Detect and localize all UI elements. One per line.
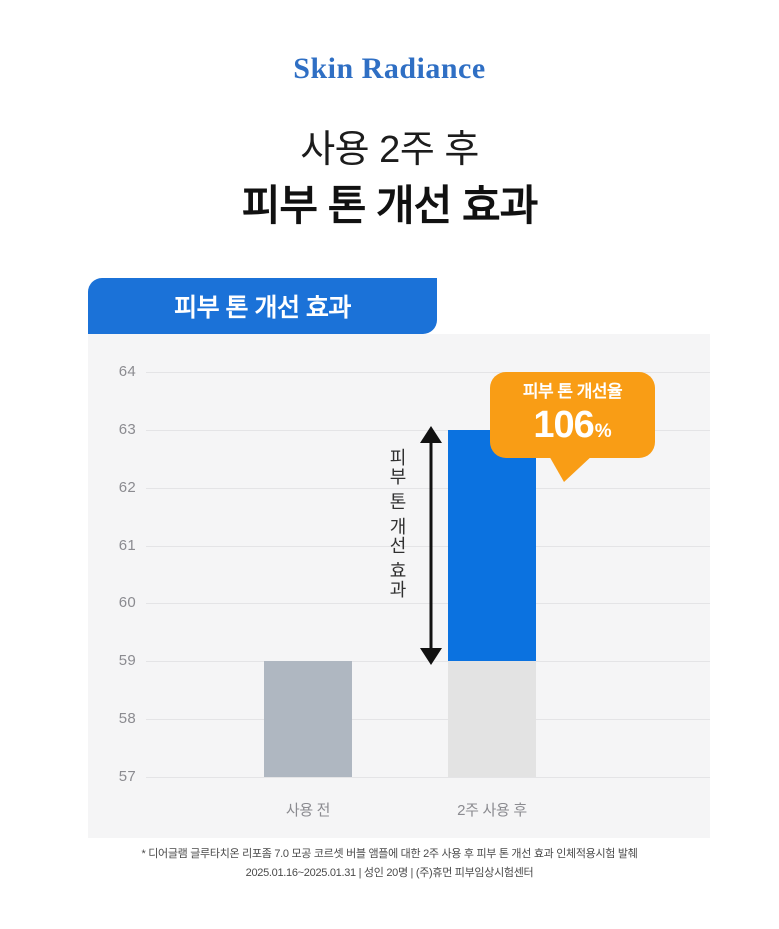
callout-value: 106 <box>533 404 593 446</box>
bar-before <box>264 661 352 777</box>
callout-value-row: 106% <box>490 406 655 444</box>
chart-plot-area: 6463626160595857사용 전2주 사용 후피부 톤 개선 효과피부 … <box>88 334 710 838</box>
y-axis-tick-label: 63 <box>88 421 136 438</box>
callout-tail <box>548 454 594 482</box>
gridline <box>146 777 710 778</box>
callout-title: 피부 톤 개선율 <box>490 383 655 400</box>
x-axis-tick-label: 2주 사용 후 <box>412 799 572 820</box>
y-axis-tick-label: 58 <box>88 710 136 727</box>
brand-title: Skin Radiance <box>0 52 779 86</box>
y-axis-tick-label: 62 <box>88 479 136 496</box>
headline-secondary: 피부 톤 개선 효과 <box>0 172 779 233</box>
improvement-range-label: 피부 톤 개선 효과 <box>384 448 410 599</box>
y-axis-gridline: 60 <box>88 603 710 604</box>
improvement-rate-callout: 피부 톤 개선율106% <box>490 372 655 458</box>
improvement-range-arrow <box>418 426 444 665</box>
y-axis-gridline: 58 <box>88 719 710 720</box>
bar-segment-base <box>448 661 536 777</box>
arrow-shaft <box>430 434 433 657</box>
chart-title-label: 피부 톤 개선 효과 <box>174 288 351 324</box>
y-axis-tick-label: 60 <box>88 594 136 611</box>
y-axis-tick-label: 64 <box>88 363 136 380</box>
y-axis-tick-label: 61 <box>88 537 136 554</box>
chart-card: 피부 톤 개선 효과 6463626160595857사용 전2주 사용 후피부… <box>88 278 710 838</box>
bar-segment-improvement <box>448 430 536 661</box>
callout-unit: % <box>595 421 612 442</box>
y-axis-tick-label: 59 <box>88 652 136 669</box>
footnote: * 디어글램 글루타치온 리포좀 7.0 모공 코르셋 버블 앰플에 대한 2주… <box>0 845 779 884</box>
arrow-head-up-icon <box>420 426 442 443</box>
y-axis-tick-label: 57 <box>88 768 136 785</box>
arrow-head-down-icon <box>420 648 442 665</box>
footnote-line-1: * 디어글램 글루타치온 리포좀 7.0 모공 코르셋 버블 앰플에 대한 2주… <box>0 845 779 864</box>
headline-primary: 사용 2주 후 <box>0 118 779 173</box>
y-axis-gridline: 57 <box>88 777 710 778</box>
chart-title-tab: 피부 톤 개선 효과 <box>88 278 437 334</box>
footnote-line-2: 2025.01.16~2025.01.31 | 성인 20명 | (주)휴먼 피… <box>0 864 779 883</box>
x-axis-tick-label: 사용 전 <box>228 799 388 820</box>
gridline <box>146 719 710 720</box>
y-axis-gridline: 59 <box>88 661 710 662</box>
